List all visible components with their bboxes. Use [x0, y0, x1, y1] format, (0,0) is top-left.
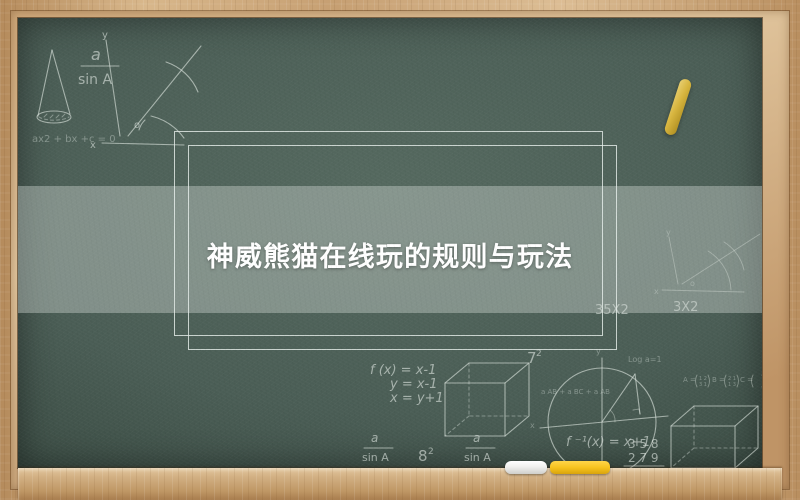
svg-text:2: 2	[428, 447, 434, 457]
svg-text:y: y	[102, 30, 108, 41]
svg-text:sin A: sin A	[78, 72, 113, 88]
svg-text:x: x	[654, 287, 659, 296]
chalkboard-banner: a sin A ax2 + bx +c = 0 x y o	[0, 0, 800, 500]
svg-text:3 5 8: 3 5 8	[628, 437, 659, 451]
svg-text:B =: B =	[712, 376, 725, 384]
svg-text:sin A: sin A	[464, 451, 491, 464]
svg-text:a: a	[473, 431, 480, 445]
side-note-sum: a AB + a BC + a AB	[541, 388, 610, 396]
svg-text:a: a	[91, 45, 101, 64]
chalk-white-on-ledge	[505, 461, 547, 474]
chalkboard-surface: a sin A ax2 + bx +c = 0 x y o	[18, 18, 762, 468]
svg-text:a: a	[371, 431, 378, 445]
svg-text:y = x-1: y = x-1	[389, 377, 438, 392]
svg-text:o: o	[134, 120, 140, 131]
seven-squared: 7 2	[527, 349, 542, 367]
log-a-equals-one: Log a=1	[628, 355, 662, 364]
svg-text:x: x	[90, 140, 96, 151]
svg-text:f (x) = x-1: f (x) = x-1	[370, 363, 436, 378]
svg-text:x: x	[530, 421, 535, 430]
svg-text:3 1: 3 1	[699, 382, 707, 388]
eight-squared: 8 2	[418, 447, 434, 465]
ledge-wood-grain	[18, 468, 782, 500]
svg-text:sin A: sin A	[362, 451, 389, 464]
cube-drawing-right	[671, 406, 758, 468]
svg-text:x = y+1: x = y+1	[389, 391, 444, 406]
sine-rule-fraction-bottom-left: a sin A	[362, 431, 393, 464]
multiply-3x2: 3X2	[673, 300, 698, 315]
sine-rule-fraction-topleft: a sin A	[78, 45, 119, 88]
chalk-yellow-on-ledge	[550, 461, 610, 474]
cone-drawing	[37, 50, 71, 123]
svg-text:A =: A =	[683, 376, 696, 384]
svg-text:8: 8	[418, 447, 428, 465]
long-division: 3 5 8 2 7 9 6 3 7	[624, 437, 664, 468]
svg-text:2 7 9: 2 7 9	[628, 451, 659, 465]
svg-text:1 3: 1 3	[728, 382, 736, 388]
svg-text:2: 2	[536, 349, 542, 359]
matrices-row: A = 1 2 3 1 B = 2 1 1 3 C =	[683, 375, 762, 388]
title-container: 神威熊猫在线玩的规则与玩法	[18, 224, 762, 284]
cube-drawing-center	[445, 363, 529, 436]
chalk-ledge	[18, 468, 782, 500]
function-equations: f (x) = x-1 y = x-1 x = y+1	[370, 363, 444, 406]
page-title: 神威熊猫在线玩的规则与玩法	[207, 235, 574, 274]
